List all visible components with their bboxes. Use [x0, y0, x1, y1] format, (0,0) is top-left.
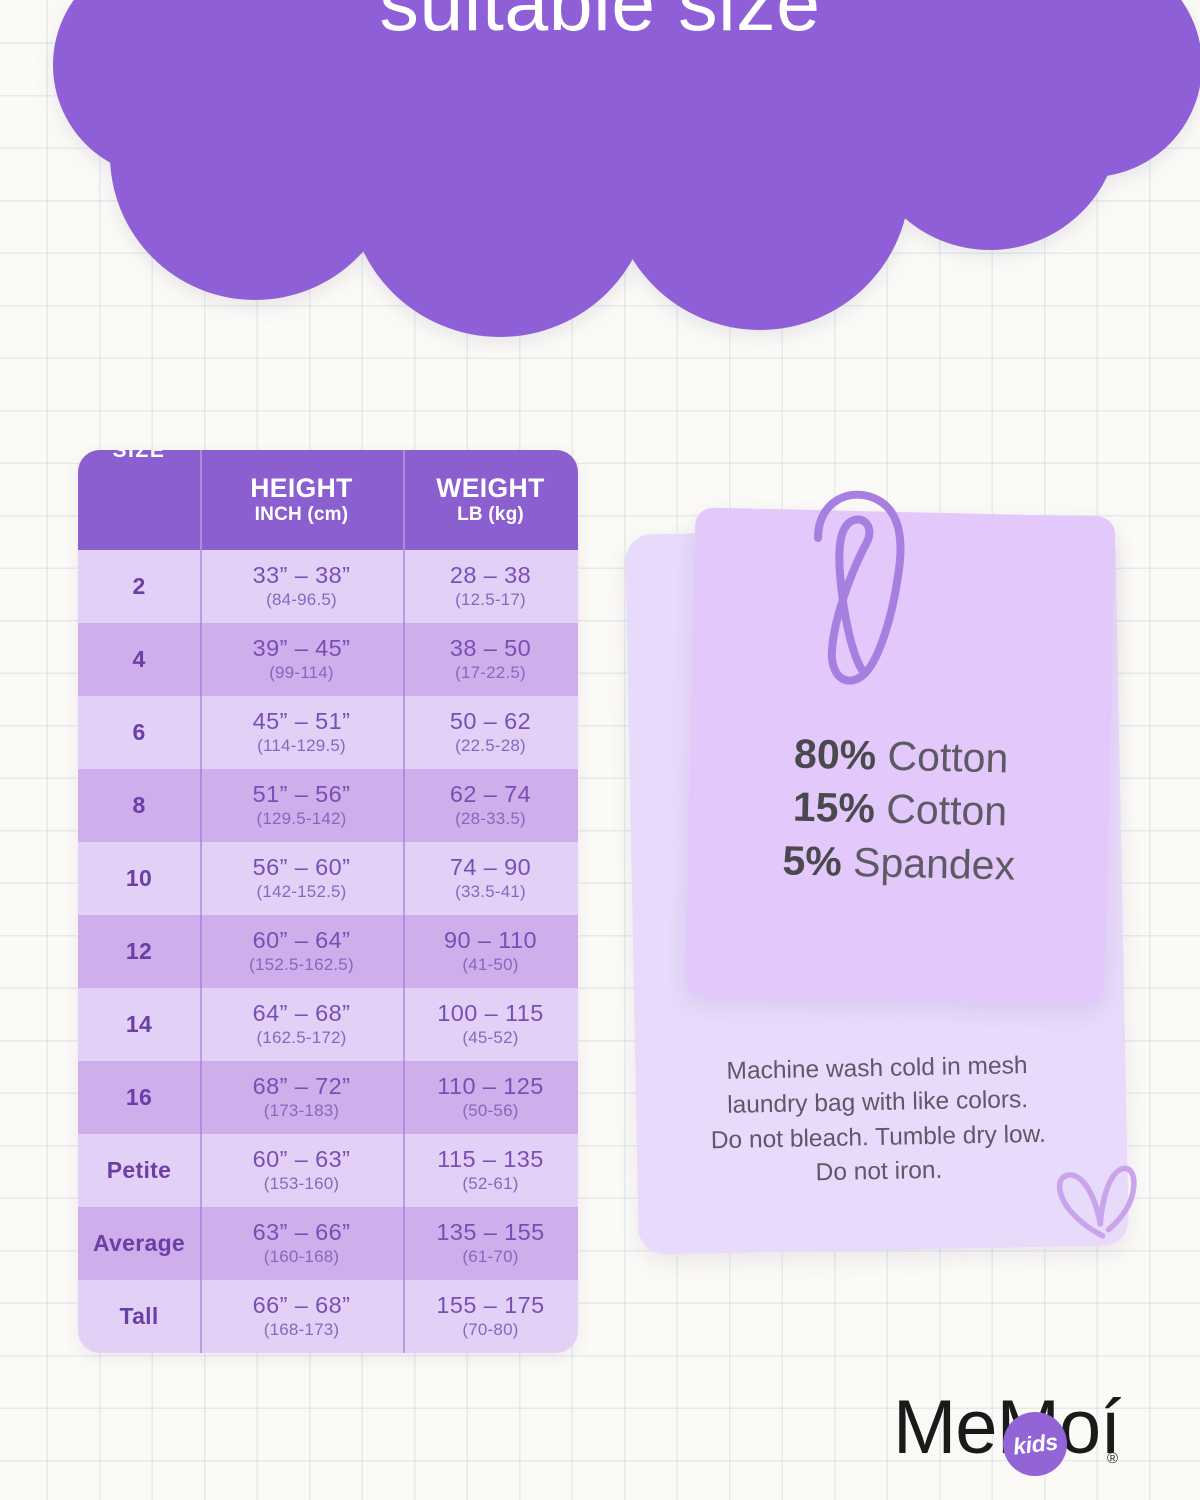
- cell-weight: 135 – 155(61-70): [403, 1207, 578, 1280]
- table-row: 439” – 45”(99-114)38 – 50(17-22.5): [78, 623, 578, 696]
- weight-kg: (28-33.5): [455, 809, 526, 829]
- cloud-shape-svg: [0, 0, 1200, 410]
- composition-material: Cotton: [886, 786, 1008, 835]
- weight-lb: 90 – 110: [444, 928, 537, 954]
- row-divider-2: [403, 1061, 405, 1134]
- row-divider-1: [200, 550, 202, 623]
- composition-material: Cotton: [887, 733, 1009, 782]
- column-header-height: HEIGHT INCH (cm): [200, 450, 403, 550]
- cell-size: 8: [78, 769, 200, 842]
- table-row: 1668” – 72”(173-183)110 – 125(50-56): [78, 1061, 578, 1134]
- cell-size: 14: [78, 988, 200, 1061]
- height-cm: (160-168): [264, 1247, 340, 1267]
- cell-height: 33” – 38”(84-96.5): [200, 550, 403, 623]
- size-label: 12: [126, 938, 152, 965]
- size-chart-table: SIZE HEIGHT INCH (cm) WEIGHT LB (kg) 233…: [78, 450, 578, 1353]
- height-cm: (129.5-142): [256, 809, 346, 829]
- height-inches: 33” – 38”: [253, 563, 351, 589]
- row-divider-2: [403, 1207, 405, 1280]
- composition-line: 15% Cotton: [689, 779, 1110, 842]
- cell-size: Petite: [78, 1134, 200, 1207]
- height-cm: (99-114): [269, 663, 334, 683]
- weight-kg: (22.5-28): [455, 736, 526, 756]
- height-cm: (142-152.5): [256, 882, 346, 902]
- cell-height: 66” – 68”(168-173): [200, 1280, 403, 1353]
- row-divider-1: [200, 1061, 202, 1134]
- table-row: Petite60” – 63”(153-160)115 – 135(52-61): [78, 1134, 578, 1207]
- weight-lb: 115 – 135: [437, 1147, 543, 1173]
- registered-trademark-symbol: ®: [1107, 1450, 1118, 1467]
- cell-weight: 155 – 175(70-80): [403, 1280, 578, 1353]
- care-instructions: Machine wash cold in mesh laundry bag wi…: [647, 1048, 1110, 1194]
- size-label: 16: [126, 1084, 152, 1111]
- height-inches: 66” – 68”: [253, 1293, 351, 1319]
- cell-height: 64” – 68”(162.5-172): [200, 988, 403, 1061]
- row-divider-1: [200, 1207, 202, 1280]
- fabric-composition: 80% Cotton15% Cotton5% Spandex: [688, 725, 1112, 894]
- cell-size: Average: [78, 1207, 200, 1280]
- weight-lb: 50 – 62: [450, 709, 531, 735]
- height-cm: (114-129.5): [257, 736, 346, 756]
- column-header-size: SIZE: [78, 450, 200, 550]
- height-inches: 39” – 45”: [253, 636, 351, 662]
- cell-size: 12: [78, 915, 200, 988]
- table-row: Tall66” – 68”(168-173)155 – 175(70-80): [78, 1280, 578, 1353]
- cell-height: 39” – 45”(99-114): [200, 623, 403, 696]
- column-header-weight-sub: LB (kg): [457, 504, 524, 526]
- cell-size: 2: [78, 550, 200, 623]
- row-divider-2: [403, 1280, 405, 1353]
- row-divider-2: [403, 696, 405, 769]
- size-label: 14: [126, 1011, 152, 1038]
- composition-line: 5% Spandex: [688, 832, 1109, 895]
- size-label: 8: [132, 792, 145, 819]
- weight-lb: 28 – 38: [450, 563, 531, 589]
- cell-size: 16: [78, 1061, 200, 1134]
- composition-line: 80% Cotton: [691, 725, 1112, 788]
- weight-kg: (61-70): [462, 1247, 518, 1267]
- column-header-height-main: HEIGHT: [250, 474, 353, 503]
- weight-kg: (33.5-41): [455, 882, 526, 902]
- table-body: 233” – 38”(84-96.5)28 – 38(12.5-17)439” …: [78, 550, 578, 1353]
- weight-kg: (17-22.5): [455, 663, 526, 683]
- row-divider-2: [403, 1134, 405, 1207]
- cell-weight: 50 – 62(22.5-28): [403, 696, 578, 769]
- weight-lb: 110 – 125: [437, 1074, 543, 1100]
- weight-lb: 62 – 74: [450, 782, 531, 808]
- size-label: 4: [132, 646, 145, 673]
- cell-height: 51” – 56”(129.5-142): [200, 769, 403, 842]
- row-divider-1: [200, 696, 202, 769]
- column-header-height-sub: INCH (cm): [255, 504, 349, 526]
- table-row: 1464” – 68”(162.5-172)100 – 115(45-52): [78, 988, 578, 1061]
- height-cm: (153-160): [264, 1174, 340, 1194]
- cell-weight: 100 – 115(45-52): [403, 988, 578, 1061]
- size-label: Petite: [107, 1157, 171, 1184]
- size-label: Average: [93, 1230, 185, 1257]
- weight-lb: 38 – 50: [450, 636, 531, 662]
- table-row: 645” – 51”(114-129.5)50 – 62(22.5-28): [78, 696, 578, 769]
- row-divider-2: [403, 988, 405, 1061]
- kids-badge-label: kids: [1011, 1428, 1059, 1460]
- table-header-row: SIZE HEIGHT INCH (cm) WEIGHT LB (kg): [78, 450, 578, 550]
- column-header-weight: WEIGHT LB (kg): [403, 450, 578, 550]
- height-inches: 60” – 63”: [253, 1147, 351, 1173]
- row-divider-1: [200, 915, 202, 988]
- composition-material: Spandex: [853, 839, 1016, 889]
- row-divider-2: [403, 769, 405, 842]
- cell-weight: 38 – 50(17-22.5): [403, 623, 578, 696]
- column-header-size-label: SIZE: [78, 450, 200, 561]
- weight-lb: 155 – 175: [436, 1293, 544, 1319]
- table-row: 851” – 56”(129.5-142)62 – 74(28-33.5): [78, 769, 578, 842]
- infographic-page: Find your suitable size SIZE HEIGHT INCH…: [0, 0, 1200, 1500]
- height-inches: 51” – 56”: [253, 782, 351, 808]
- row-divider-1: [200, 988, 202, 1061]
- cell-weight: 110 – 125(50-56): [403, 1061, 578, 1134]
- weight-lb: 135 – 155: [436, 1220, 544, 1246]
- paperclip-icon: [800, 478, 930, 698]
- cell-height: 60” – 64”(152.5-162.5): [200, 915, 403, 988]
- row-divider-1: [200, 623, 202, 696]
- row-divider-1: [200, 769, 202, 842]
- height-inches: 68” – 72”: [253, 1074, 351, 1100]
- cell-height: 45” – 51”(114-129.5): [200, 696, 403, 769]
- weight-kg: (45-52): [462, 1028, 518, 1048]
- cell-weight: 115 – 135(52-61): [403, 1134, 578, 1207]
- height-inches: 60” – 64”: [253, 928, 351, 954]
- kids-badge: kids: [1003, 1412, 1067, 1476]
- cloud-blobs: [53, 0, 1200, 337]
- cell-height: 56” – 60”(142-152.5): [200, 842, 403, 915]
- height-inches: 63” – 66”: [253, 1220, 351, 1246]
- height-cm: (84-96.5): [266, 590, 337, 610]
- size-label: 10: [126, 865, 152, 892]
- cell-size: 4: [78, 623, 200, 696]
- row-divider-2: [403, 842, 405, 915]
- size-label: 6: [132, 719, 145, 746]
- table-row: Average63” – 66”(160-168)135 – 155(61-70…: [78, 1207, 578, 1280]
- cell-size: Tall: [78, 1280, 200, 1353]
- row-divider-1: [200, 1280, 202, 1353]
- row-divider-1: [200, 1134, 202, 1207]
- cell-size: 6: [78, 696, 200, 769]
- weight-kg: (12.5-17): [455, 590, 526, 610]
- height-cm: (162.5-172): [256, 1028, 346, 1048]
- weight-lb: 74 – 90: [450, 855, 531, 881]
- row-divider-2: [403, 623, 405, 696]
- weight-kg: (70-80): [462, 1320, 518, 1340]
- height-inches: 56” – 60”: [253, 855, 351, 881]
- size-label: 2: [132, 573, 145, 600]
- header-divider-2: [403, 450, 405, 550]
- cell-weight: 28 – 38(12.5-17): [403, 550, 578, 623]
- cell-height: 60” – 63”(153-160): [200, 1134, 403, 1207]
- header-divider-1: [200, 450, 202, 550]
- weight-kg: (50-56): [462, 1101, 518, 1121]
- height-inches: 45” – 51”: [253, 709, 351, 735]
- composition-percent: 80%: [794, 731, 877, 779]
- height-cm: (173-183): [264, 1101, 340, 1121]
- row-divider-1: [200, 842, 202, 915]
- height-cm: (168-173): [264, 1320, 340, 1340]
- weight-kg: (52-61): [462, 1174, 518, 1194]
- composition-percent: 5%: [782, 837, 842, 884]
- size-label: Tall: [119, 1303, 158, 1330]
- page-title: Find your suitable size: [0, 0, 1200, 42]
- height-cm: (152.5-162.5): [249, 955, 354, 975]
- cell-weight: 74 – 90(33.5-41): [403, 842, 578, 915]
- table-row: 1056” – 60”(142-152.5)74 – 90(33.5-41): [78, 842, 578, 915]
- cell-weight: 62 – 74(28-33.5): [403, 769, 578, 842]
- header-cloud: Find your suitable size: [0, 0, 1200, 410]
- brand-logo: MeMoí kids ®: [893, 1388, 1143, 1480]
- table-row: 1260” – 64”(152.5-162.5)90 – 110(41-50): [78, 915, 578, 988]
- heart-icon: [1049, 1157, 1141, 1254]
- cell-height: 63” – 66”(160-168): [200, 1207, 403, 1280]
- weight-lb: 100 – 115: [437, 1001, 543, 1027]
- cell-weight: 90 – 110(41-50): [403, 915, 578, 988]
- table-row: 233” – 38”(84-96.5)28 – 38(12.5-17): [78, 550, 578, 623]
- weight-kg: (41-50): [462, 955, 518, 975]
- column-header-weight-main: WEIGHT: [436, 474, 544, 503]
- cell-size: 10: [78, 842, 200, 915]
- cell-height: 68” – 72”(173-183): [200, 1061, 403, 1134]
- height-inches: 64” – 68”: [253, 1001, 351, 1027]
- composition-percent: 15%: [792, 784, 875, 832]
- row-divider-2: [403, 550, 405, 623]
- row-divider-2: [403, 915, 405, 988]
